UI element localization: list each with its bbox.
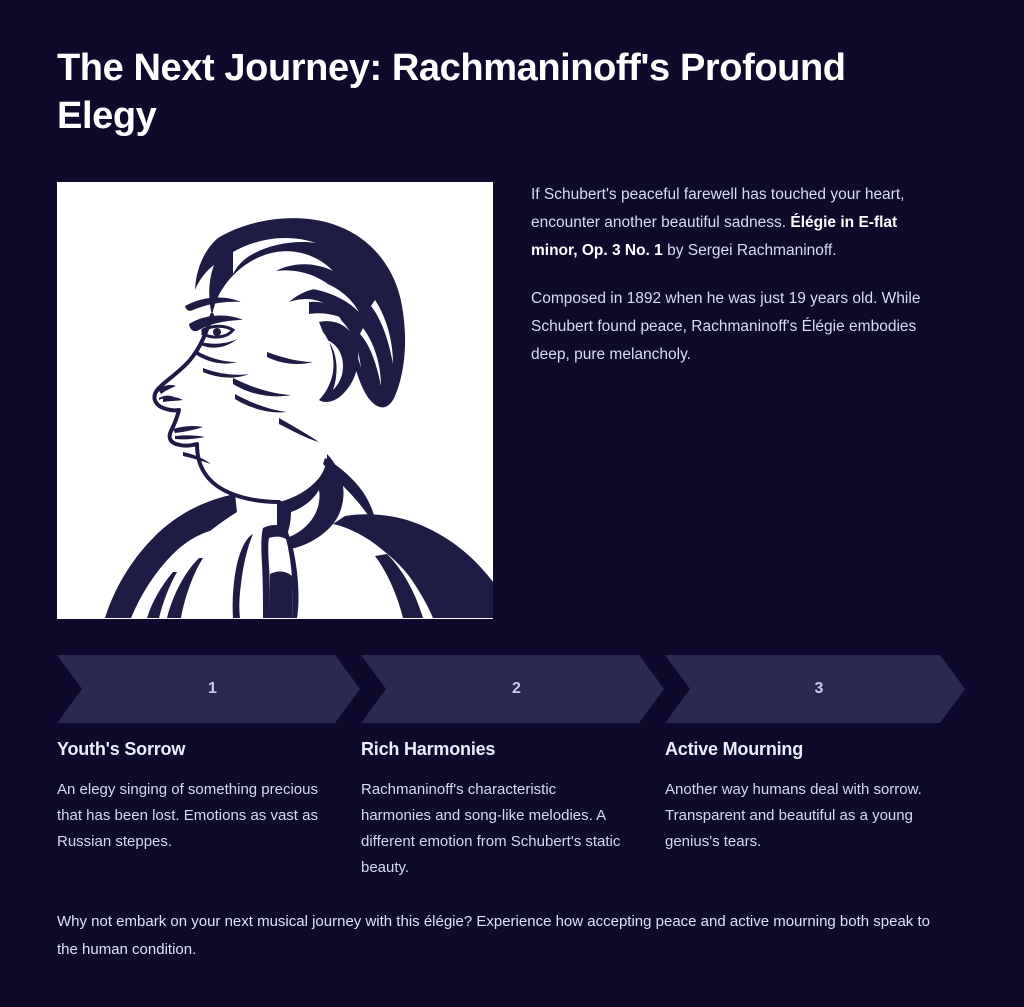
page-title: The Next Journey: Rachmaninoff's Profoun… <box>57 44 887 140</box>
footer-note: Why not embark on your next musical jour… <box>57 908 953 964</box>
step-chevron-row: 1 2 3 <box>57 655 965 723</box>
step-number-1: 1 <box>208 680 217 698</box>
intro-paragraph-2: Composed in 1892 when he was just 19 yea… <box>531 285 947 369</box>
step-column-1: Youth's Sorrow An elegy singing of somet… <box>57 737 324 881</box>
portrait-illustration <box>57 182 493 619</box>
step-chevron-1[interactable]: 1 <box>57 655 360 723</box>
step-detail-columns: Youth's Sorrow An elegy singing of somet… <box>57 737 965 881</box>
step-heading-3: Active Mourning <box>665 737 932 761</box>
step-column-3: Active Mourning Another way humans deal … <box>665 737 932 881</box>
step-number-3: 3 <box>814 680 823 698</box>
step-body-2: Rachmaninoff's characteristic harmonies … <box>361 777 628 881</box>
footer-text: Why not embark on your next musical jour… <box>57 908 953 964</box>
step-column-2: Rich Harmonies Rachmaninoff's characteri… <box>361 737 628 881</box>
slide-root: The Next Journey: Rachmaninoff's Profoun… <box>0 0 1024 1007</box>
step-number-2: 2 <box>512 680 521 698</box>
rachmaninoff-portrait <box>57 182 493 619</box>
step-heading-1: Youth's Sorrow <box>57 737 324 761</box>
step-chevron-2[interactable]: 2 <box>361 655 664 723</box>
step-chevron-3[interactable]: 3 <box>665 655 965 723</box>
intro-paragraph-1: If Schubert's peaceful farewell has touc… <box>531 181 947 265</box>
intro-p1-tail: by Sergei Rachmaninoff. <box>663 242 837 259</box>
step-body-1: An elegy singing of something precious t… <box>57 777 324 855</box>
step-body-3: Another way humans deal with sorrow. Tra… <box>665 777 932 855</box>
step-heading-2: Rich Harmonies <box>361 737 628 761</box>
intro-copy: If Schubert's peaceful farewell has touc… <box>531 181 947 369</box>
